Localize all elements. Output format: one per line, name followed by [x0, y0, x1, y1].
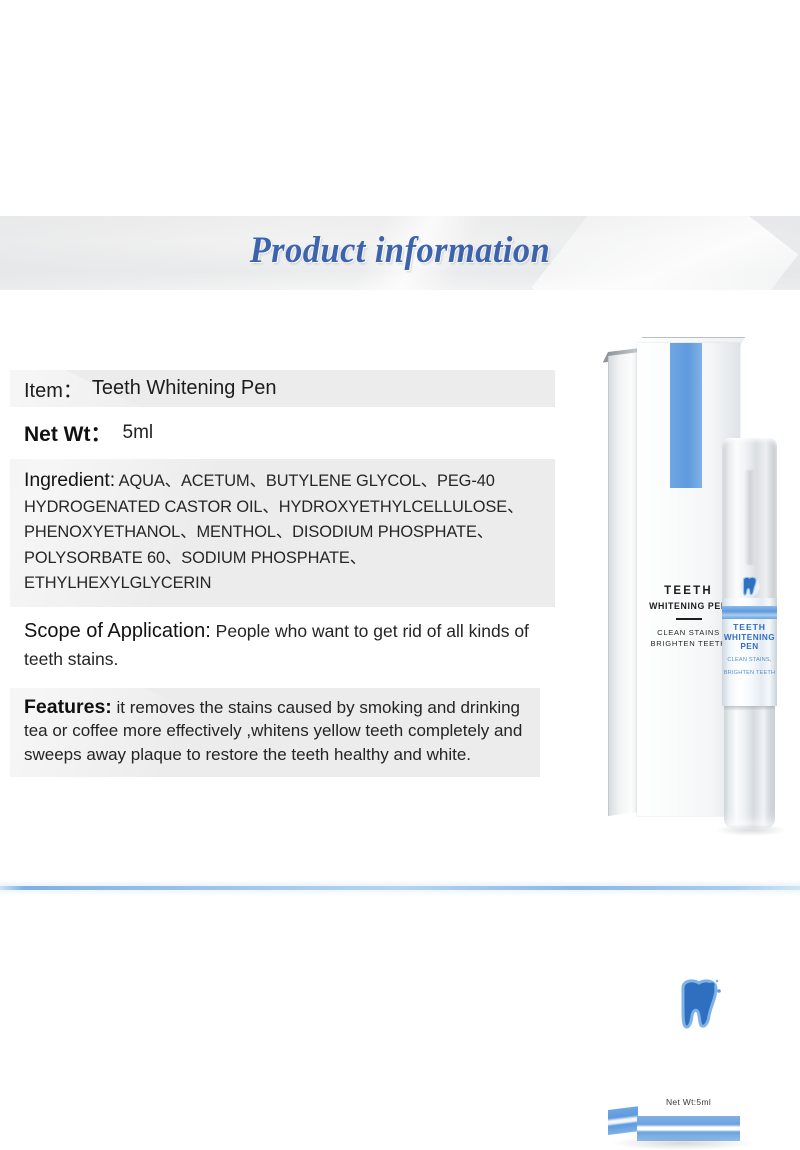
box-net-wt: Net Wt:5ml — [637, 1097, 740, 1107]
box-blue-stripe — [670, 343, 702, 488]
pen-brand-line2: WHITENING PEN — [722, 633, 777, 651]
pen-shadow — [716, 824, 786, 836]
features-label: Features: — [24, 696, 112, 718]
pen-tooth-icon — [740, 576, 760, 603]
info-row-scope: Scope of Application: People who want to… — [10, 607, 540, 681]
info-row-ingredient: Ingredient: AQUA、ACETUM、BUTYLENE GLYCOL、… — [10, 459, 555, 607]
pen-brand-line1: TEETH — [722, 622, 777, 632]
net-wt-label: Net Wt： — [24, 418, 112, 448]
pen-brush-tip — [744, 470, 756, 565]
pen-blue-band — [722, 606, 777, 619]
pen-tagline-line2: BRIGHTEN TEETH — [722, 669, 777, 677]
box-divider-rule — [676, 618, 702, 620]
product-info-list: Item： Teeth Whitening Pen Net Wt： 5ml In… — [10, 370, 555, 777]
pen-barrel-ring — [724, 706, 775, 711]
net-wt-value: 5ml — [123, 422, 154, 444]
info-row-features: Features: it removes the stains caused b… — [10, 688, 540, 778]
bottom-divider — [0, 886, 800, 890]
item-label: Item： — [24, 374, 83, 403]
box-side-panel — [608, 352, 639, 816]
info-row-net-wt: Net Wt： 5ml — [10, 407, 555, 459]
pen-branding: TEETH WHITENING PEN CLEAN STAINS, BRIGHT… — [722, 622, 777, 677]
item-value: Teeth Whitening Pen — [92, 377, 277, 400]
ingredient-label: Ingredient: — [24, 469, 115, 491]
box-base-band-side — [608, 1106, 638, 1135]
pen-tagline-line1: CLEAN STAINS, — [722, 656, 777, 664]
scope-label: Scope of Application: — [24, 620, 211, 642]
box-shadow — [612, 1136, 752, 1150]
page-title: Product information — [28, 229, 772, 272]
pen-barrel — [724, 706, 775, 828]
product-photo: TEETH WHITENING PEN CLEAN STAINS BRIGHTE… — [600, 330, 800, 840]
tooth-icon — [674, 978, 726, 1039]
info-row-item: Item： Teeth Whitening Pen — [10, 370, 555, 407]
